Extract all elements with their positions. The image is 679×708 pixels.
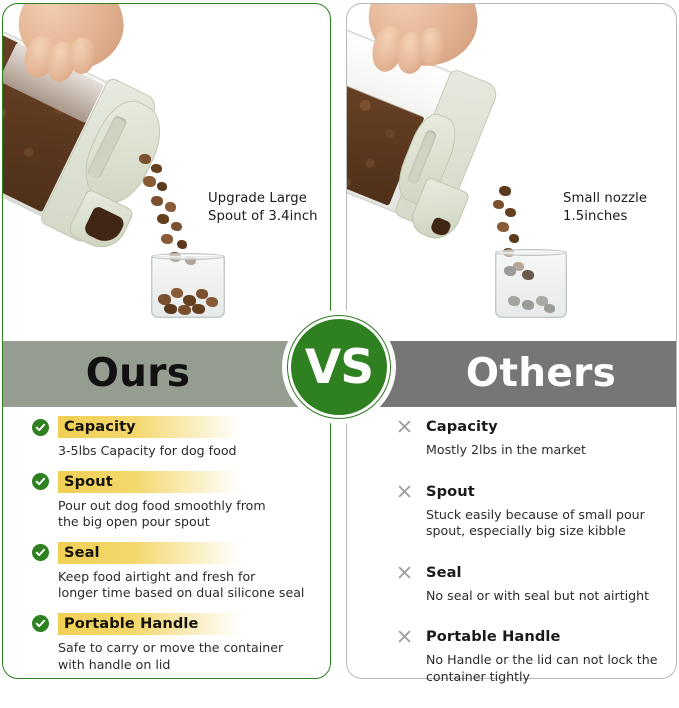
comparison-infographic: Upgrade Large Spout of 3.4inch — [0, 0, 679, 683]
others-feature-title: Capacity — [426, 418, 498, 435]
others-feature-item: Seal No seal or with seal but not airtig… — [396, 562, 668, 605]
others-feature-title: Portable Handle — [426, 628, 560, 645]
check-circle-icon — [32, 473, 49, 490]
others-feature-item: Portable Handle No Handle or the lid can… — [396, 626, 668, 685]
ours-feature-description: Safe to carry or move the container with… — [58, 640, 324, 673]
ours-feature-item: Capacity 3-5lbs Capacity for dog food — [32, 416, 324, 460]
others-feature-description: Mostly 2lbs in the market — [426, 442, 668, 459]
ours-feature-list: Capacity 3-5lbs Capacity for dog food Sp… — [32, 416, 324, 684]
vs-label: VS — [305, 344, 373, 391]
check-circle-icon — [32, 544, 49, 561]
ours-feature-title: Portable Handle — [58, 613, 240, 635]
others-feature-list: Capacity Mostly 2lbs in the market Spout… — [396, 416, 668, 708]
others-feature-title: Spout — [426, 483, 475, 500]
ours-feature-title: Seal — [58, 542, 240, 564]
x-mark-icon — [396, 418, 413, 435]
others-feature-item: Capacity Mostly 2lbs in the market — [396, 416, 668, 459]
x-mark-icon — [396, 628, 413, 645]
check-circle-icon — [32, 615, 49, 632]
vs-badge-icon: VS — [282, 310, 396, 424]
others-feature-description: Stuck easily because of small pour spout… — [426, 507, 668, 540]
ours-feature-item: Portable Handle Safe to carry or move th… — [32, 613, 324, 673]
x-mark-icon — [396, 564, 413, 581]
others-feature-title: Seal — [426, 564, 462, 581]
x-mark-icon — [396, 483, 413, 500]
ours-feature-description: Keep food airtight and fresh for longer … — [58, 569, 324, 602]
others-feature-item: Spout Stuck easily because of small pour… — [396, 481, 668, 540]
ours-feature-item: Seal Keep food airtight and fresh for lo… — [32, 542, 324, 602]
others-banner-title: Others — [406, 341, 676, 407]
ours-feature-description: Pour out dog food smoothly from the big … — [58, 498, 324, 531]
ours-feature-title: Capacity — [58, 416, 240, 438]
others-feature-description: No Handle or the lid can not lock the co… — [426, 652, 668, 685]
ours-feature-description: 3-5lbs Capacity for dog food — [58, 443, 324, 460]
ours-feature-title: Spout — [58, 471, 240, 493]
check-circle-icon — [32, 419, 49, 436]
others-feature-description: No seal or with seal but not airtight — [426, 588, 668, 605]
vs-badge-disc: VS — [291, 319, 387, 415]
ours-feature-item: Spout Pour out dog food smoothly from th… — [32, 471, 324, 531]
ours-banner-title: Ours — [3, 341, 273, 407]
